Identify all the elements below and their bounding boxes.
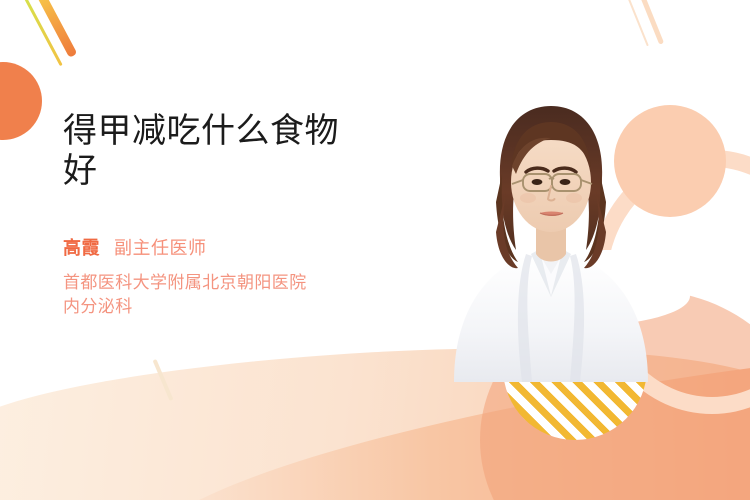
orange-circle-decoration <box>0 62 42 140</box>
page-title: 得甲减吃什么食物好 <box>63 112 353 192</box>
yellow-diagonal-stroke-icon <box>24 0 62 66</box>
doctor-title: 副主任医师 <box>114 238 207 258</box>
text-content-block: 得甲减吃什么食物好 高霞副主任医师 首都医科大学附属北京朝阳医院 内分泌科 <box>63 112 423 320</box>
doctor-affiliation: 首都医科大学附属北京朝阳医院 内分泌科 <box>63 271 393 320</box>
hospital-name: 首都医科大学附属北京朝阳医院 <box>63 271 393 296</box>
doctor-name: 高霞 <box>63 238 100 258</box>
peach-diagonal-stroke-b-icon <box>625 0 649 46</box>
doctor-portrait <box>436 82 666 382</box>
health-article-cover-card: 得甲减吃什么食物好 高霞副主任医师 首都医科大学附属北京朝阳医院 内分泌科 <box>0 0 750 500</box>
cream-diagonal-stroke-icon <box>153 359 174 401</box>
peach-diagonal-stroke-a-icon <box>637 0 664 45</box>
department-name: 内分泌科 <box>63 295 393 320</box>
doctor-identity-line: 高霞副主任医师 <box>63 234 423 260</box>
orange-diagonal-stroke-icon <box>36 0 78 58</box>
